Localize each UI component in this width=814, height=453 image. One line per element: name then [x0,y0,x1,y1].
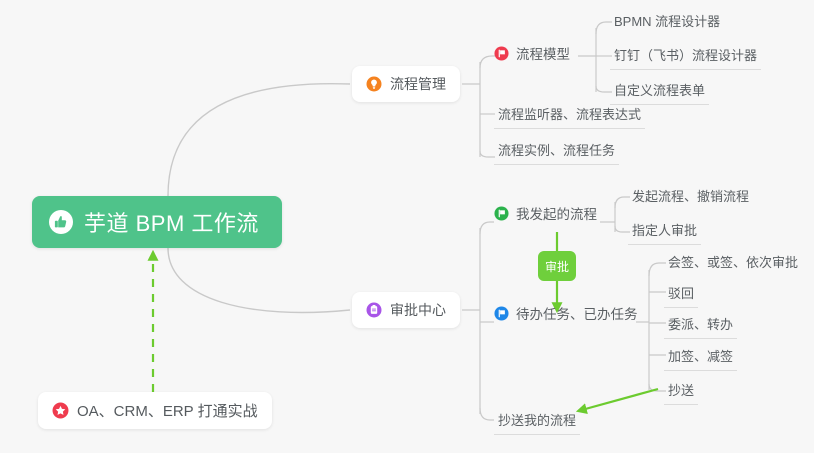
thumbs-up-icon [48,209,74,235]
leaf-node-custom-form[interactable]: 自定义流程表单 [610,80,709,105]
topic-node-process-model[interactable]: 流程模型 [494,43,570,67]
mindmap-canvas: 芋道 BPM 工作流 流程管理 审批中心 [0,0,814,453]
link-root-to-process-management [168,84,350,196]
topic-node-todo-done-tasks[interactable]: 待办任务、已办任务 [494,303,638,327]
topic-node-my-initiated[interactable]: 我发起的流程 [494,203,597,227]
leaf-node-process-listener[interactable]: 流程监听器、流程表达式 [494,104,645,129]
leaf-node-assignee-approval[interactable]: 指定人审批 [628,220,701,245]
leaf-node-process-instance[interactable]: 流程实例、流程任务 [494,140,619,165]
arrow-cc-to-cc-my-process [578,389,658,411]
integration-node-label: OA、CRM、ERP 打通实战 [77,400,258,421]
leaf-node-bpmn-designer[interactable]: BPMN 流程设计器 [610,11,724,35]
link-to-process-instance [480,151,495,157]
leaf-node-add-remove-sign[interactable]: 加签、减签 [664,346,737,371]
link-to-my-initiated [480,222,494,234]
topic-node-my-initiated-label: 我发起的流程 [516,203,597,223]
leaf-node-countersign[interactable]: 会签、或签、依次审批 [664,252,802,276]
link-to-cc-my-process [480,408,494,420]
approval-flow-badge: 审批 [538,251,576,281]
leaf-node-cc[interactable]: 抄送 [664,380,698,405]
root-node-label: 芋道 BPM 工作流 [84,206,259,238]
leaf-node-delegate-transfer[interactable]: 委派、转办 [664,314,737,339]
clipboard-icon [366,302,382,318]
leaf-node-start-cancel-process[interactable]: 发起流程、撤销流程 [628,186,753,210]
leaf-node-dingtalk-designer[interactable]: 钉钉（飞书）流程设计器 [610,45,761,70]
flag-icon [494,46,509,61]
star-icon [52,402,69,419]
flag-icon [494,206,509,221]
integration-node[interactable]: OA、CRM、ERP 打通实战 [38,392,272,429]
topic-node-todo-done-tasks-label: 待办任务、已办任务 [516,303,638,323]
branch-node-process-management-label: 流程管理 [390,74,446,94]
approval-flow-badge-label: 审批 [545,258,569,275]
branch-node-approval-center[interactable]: 审批中心 [352,292,460,328]
link-to-process-model [480,56,495,68]
lightbulb-pin-icon [366,76,382,92]
branch-node-process-management[interactable]: 流程管理 [352,66,460,102]
leaf-node-cc-my-process[interactable]: 抄送我的流程 [494,410,580,435]
topic-node-process-model-label: 流程模型 [516,43,570,63]
leaf-node-reject[interactable]: 驳回 [664,283,698,308]
flag-icon [494,306,509,321]
root-node[interactable]: 芋道 BPM 工作流 [32,196,282,248]
link-root-to-approval-center [168,248,350,312]
branch-node-approval-center-label: 审批中心 [390,300,446,320]
